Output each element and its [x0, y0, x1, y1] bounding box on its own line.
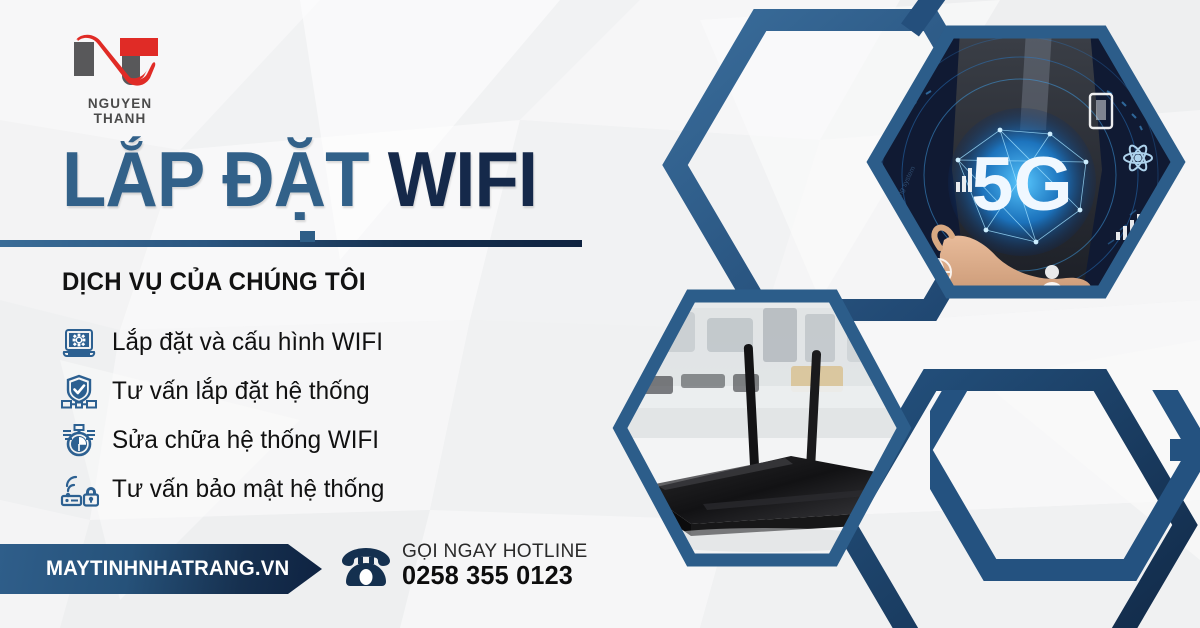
laptop-gear-icon — [58, 322, 100, 364]
title-part-2: WIFI — [388, 135, 537, 223]
service-label: Tư vấn lắp đặt hệ thống — [112, 377, 370, 406]
gear-clock-repair-icon — [58, 420, 100, 462]
hexagon-photo-router — [595, 278, 945, 628]
list-item: Lắp đặt và cấu hình WIFI — [58, 318, 538, 367]
website-banner[interactable]: MAYTINHNHATRANG.VN — [0, 544, 322, 594]
title-divider — [0, 240, 582, 247]
title-divider-notch — [300, 231, 315, 242]
hotline-block: GỌI NGAY HOTLINE 0258 355 0123 — [402, 541, 591, 590]
banner-canvas: 5G — [0, 0, 1200, 628]
service-label: Sửa chữa hệ thống WIFI — [112, 426, 379, 455]
service-label: Lắp đặt và cấu hình WIFI — [112, 328, 383, 357]
list-item: Tư vấn lắp đặt hệ thống — [58, 367, 538, 416]
telephone-icon — [338, 544, 394, 594]
page-title: LẮP ĐẶT WIFI — [62, 134, 537, 225]
list-item: Tư vấn bảo mật hệ thống — [58, 465, 538, 514]
section-subtitle: DỊCH VỤ CỦA CHÚNG TÔI — [62, 268, 366, 297]
brand-name: NGUYEN THANH — [60, 96, 180, 126]
wifi-router-lock-icon — [58, 469, 100, 511]
photo-5g-caption: 5G — [971, 142, 1072, 227]
nt-monogram-icon — [60, 28, 180, 88]
title-part-1: LẮP ĐẶT — [62, 135, 388, 223]
service-label: Tư vấn bảo mật hệ thống — [112, 475, 384, 504]
services-list: Lắp đặt và cấu hình WIFI Tư vấn lắp đặt … — [58, 318, 538, 514]
website-url: MAYTINHNHATRANG.VN — [46, 557, 289, 581]
shield-check-network-icon — [58, 371, 100, 413]
brand-logo: NGUYEN THANH — [60, 28, 180, 113]
list-item: Sửa chữa hệ thống WIFI — [58, 416, 538, 465]
hotline-number[interactable]: 0258 355 0123 — [402, 562, 589, 590]
hexagon-outline-decoration-right — [930, 390, 1200, 628]
hotline-label: GỌI NGAY HOTLINE — [402, 541, 588, 562]
